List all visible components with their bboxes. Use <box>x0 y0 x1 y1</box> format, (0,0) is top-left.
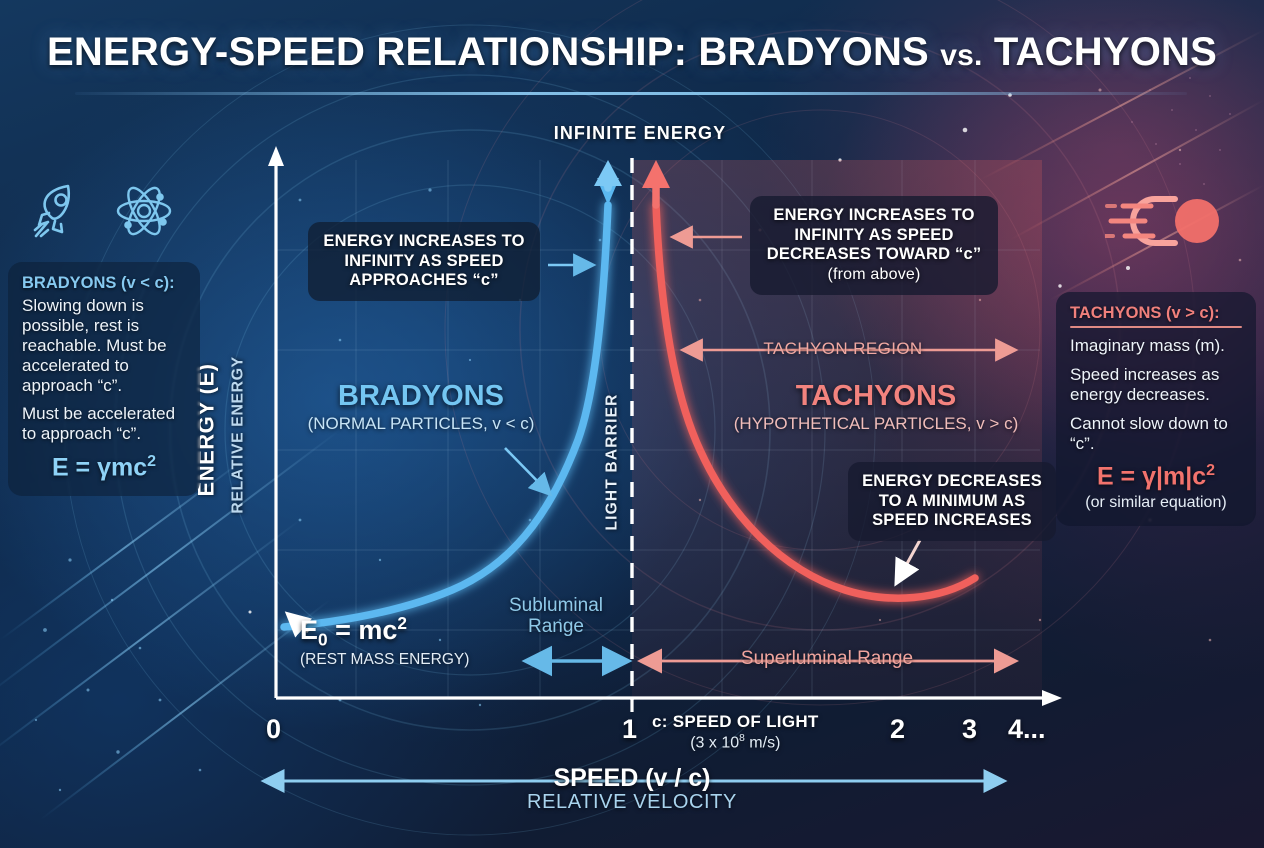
callout-tachyon-infinity: ENERGY INCREASES TO INFINITY AS SPEED DE… <box>750 196 998 295</box>
x-axis-title: SPEED (v / c) RELATIVE VELOCITY <box>0 764 1264 814</box>
panel-bradyons-p1: Slowing down is possible, rest is reacha… <box>22 296 186 395</box>
x-tick-0: 0 <box>266 714 281 745</box>
panel-bradyons: BRADYONS (v < c): Slowing down is possib… <box>8 262 200 496</box>
infinite-energy-label: INFINITE ENERGY <box>0 123 1264 144</box>
bradyons-subtitle: (NORMAL PARTICLES, v < c) <box>288 414 554 434</box>
atom-icon <box>113 180 175 242</box>
infographic-canvas: ENERGY-SPEED RELATIONSHIP: BRADYONS vs. … <box>0 0 1264 848</box>
x-tick-4: 4... <box>1008 714 1046 745</box>
panel-tachyons-heading: TACHYONS (v > c): <box>1070 304 1242 323</box>
rest-energy-caption: (REST MASS ENERGY) <box>300 651 469 669</box>
rest-mass-energy-annotation: E0 = mc2 (REST MASS ENERGY) <box>300 613 469 669</box>
panel-bradyons-p2: Must be accelerated to approach “c”. <box>22 404 186 444</box>
title-tail: TACHYONS <box>983 30 1217 74</box>
x-tick-1: 1 <box>622 714 637 745</box>
rocket-icon <box>28 180 90 242</box>
title-main: ENERGY-SPEED RELATIONSHIP: BRADYONS <box>47 30 940 74</box>
callout-tachyon-soft: (from above) <box>827 266 920 283</box>
tachyon-region-label: TACHYON REGION <box>748 339 938 359</box>
title-vs: vs. <box>940 39 982 72</box>
x-tick-3: 3 <box>962 714 977 745</box>
page-title: ENERGY-SPEED RELATIONSHIP: BRADYONS vs. … <box>0 30 1264 75</box>
tachyons-title: TACHYONS <box>690 380 1062 413</box>
y-axis-subtitle: RELATIVE ENERGY <box>222 320 256 550</box>
title-divider <box>75 92 1187 95</box>
panel-tachyons-equation: E = γ|m|c2 <box>1070 462 1242 491</box>
rest-energy-equation: E0 = mc2 <box>300 613 469 650</box>
x-axis-sub-label: RELATIVE VELOCITY <box>0 791 1264 814</box>
tachyons-subtitle: (HYPOTHETICAL PARTICLES, v > c) <box>690 414 1062 434</box>
panel-tachyons-p1: Imaginary mass (m). <box>1070 336 1242 356</box>
panel-tachyons-equation-note: (or similar equation) <box>1070 494 1242 512</box>
y-axis-sub-label: RELATIVE ENERGY <box>230 356 248 513</box>
superluminal-range-label: Superluminal Range <box>716 648 938 670</box>
x-axis-main-label: SPEED (v / c) <box>0 764 1264 793</box>
panel-tachyons-p2: Speed increases as energy decreases. <box>1070 365 1242 405</box>
bradyons-label-pointer <box>505 448 548 492</box>
speed-of-light-note: c: SPEED OF LIGHT (3 x 108 m/s) <box>652 712 819 752</box>
c-note-line1: c: SPEED OF LIGHT <box>652 712 819 732</box>
bradyons-title: BRADYONS <box>288 380 554 413</box>
tachyons-series-label: TACHYONS (HYPOTHETICAL PARTICLES, v > c) <box>690 380 1062 434</box>
comet-icon <box>1105 190 1225 252</box>
c-note-line2: (3 x 108 m/s) <box>652 733 819 752</box>
panel-tachyons-p3: Cannot slow down to “c”. <box>1070 414 1242 454</box>
callout-tachyon-minimum: ENERGY DECREASES TO A MINIMUM AS SPEED I… <box>848 462 1056 541</box>
panel-tachyons-divider <box>1070 326 1242 328</box>
panel-bradyons-heading: BRADYONS (v < c): <box>22 274 186 293</box>
x-tick-2: 2 <box>890 714 905 745</box>
panel-bradyons-equation: E = γmc2 <box>22 453 186 482</box>
subluminal-range-label: Subluminal Range <box>492 596 620 638</box>
bradyons-series-label: BRADYONS (NORMAL PARTICLES, v < c) <box>288 380 554 434</box>
panel-tachyons: TACHYONS (v > c): Imaginary mass (m). Sp… <box>1056 292 1256 526</box>
title-block: ENERGY-SPEED RELATIONSHIP: BRADYONS vs. … <box>0 30 1264 75</box>
callout-bradyon-energy: ENERGY INCREASES TO INFINITY AS SPEED AP… <box>308 222 540 301</box>
light-barrier-label: LIGHT BARRIER <box>596 372 628 552</box>
